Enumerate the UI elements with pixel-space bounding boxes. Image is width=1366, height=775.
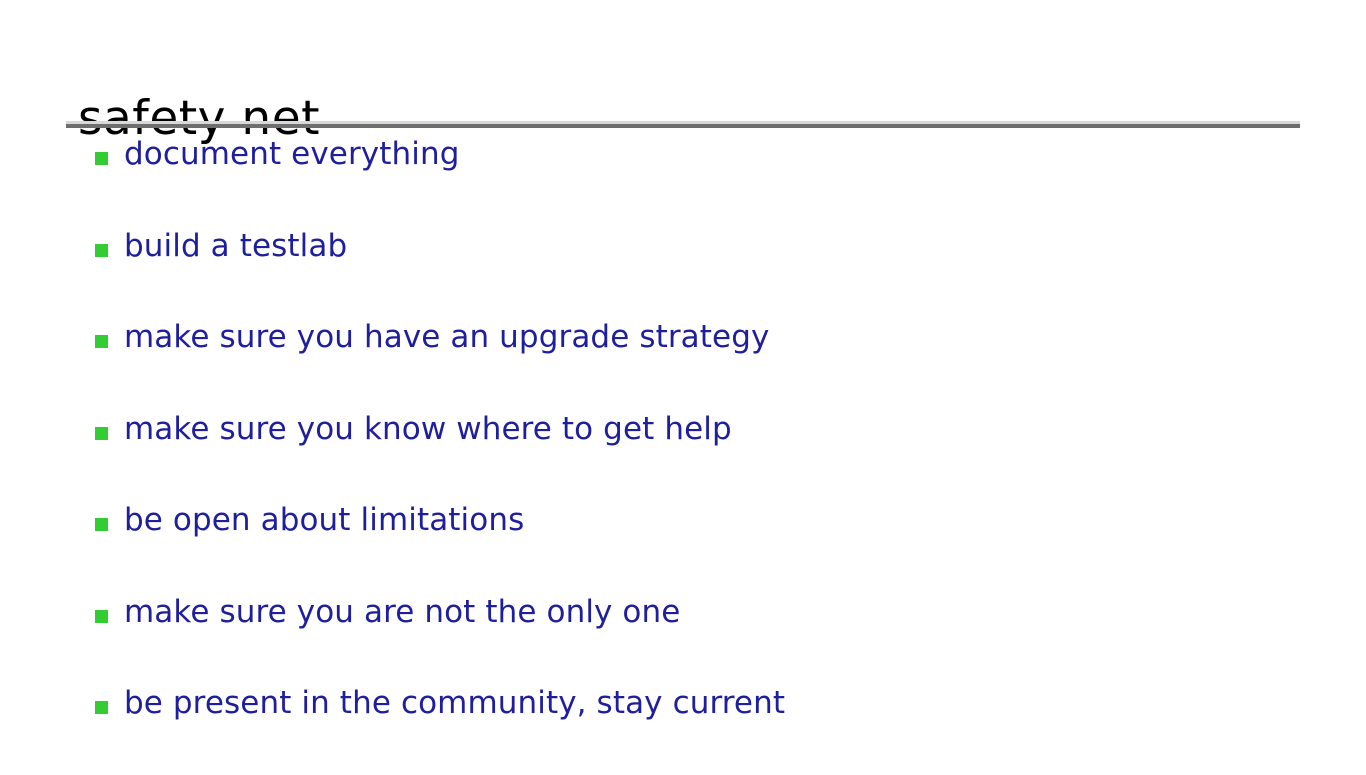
bullet-list: document everything build a testlab make…: [95, 134, 1335, 775]
title-divider-rule: [66, 121, 1300, 128]
list-item: document everything: [95, 134, 1335, 226]
list-item-label: build a testlab: [124, 226, 1335, 266]
list-item-label: make sure you have an upgrade strategy: [124, 317, 1335, 357]
presentation-slide: safety net document everything build a t…: [0, 0, 1366, 768]
list-item-label: make sure you know where to get help: [124, 409, 1335, 449]
list-item: make sure you are not the only one: [95, 592, 1335, 684]
list-item: make sure you know where to get help: [95, 409, 1335, 501]
square-bullet-icon: [95, 152, 108, 165]
square-bullet-icon: [95, 335, 108, 348]
list-item: be present in the community, stay curren…: [95, 683, 1335, 775]
list-item: be open about limitations: [95, 500, 1335, 592]
square-bullet-icon: [95, 610, 108, 623]
list-item-label: document everything: [124, 134, 1335, 174]
list-item-label: make sure you are not the only one: [124, 592, 1335, 632]
list-item-label: be open about limitations: [124, 500, 1335, 540]
list-item: make sure you have an upgrade strategy: [95, 317, 1335, 409]
list-item-label: be present in the community, stay curren…: [124, 683, 1335, 723]
square-bullet-icon: [95, 701, 108, 714]
square-bullet-icon: [95, 244, 108, 257]
divider-shadow-line: [66, 124, 1300, 128]
list-item: build a testlab: [95, 226, 1335, 318]
square-bullet-icon: [95, 518, 108, 531]
square-bullet-icon: [95, 427, 108, 440]
